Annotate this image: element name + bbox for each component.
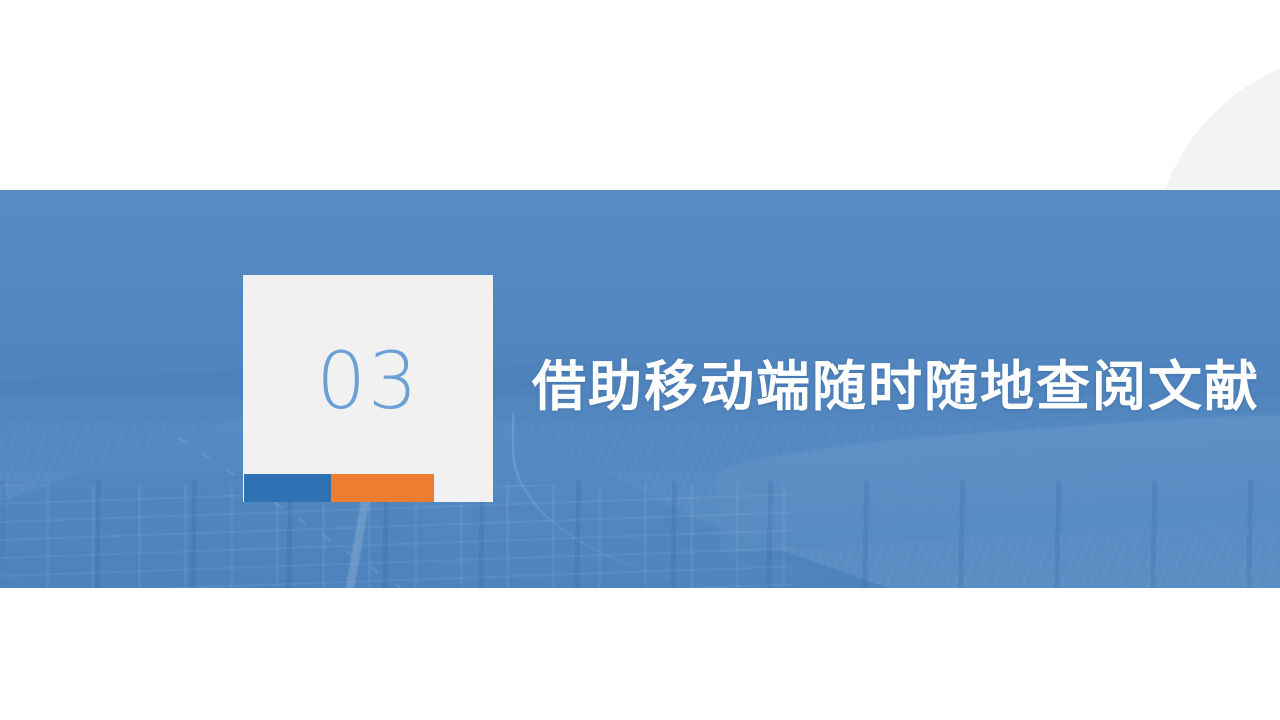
accent-bar-group bbox=[244, 474, 434, 502]
accent-bar-blue bbox=[244, 474, 331, 502]
decorative-shape-bottom-right bbox=[0, 588, 1280, 720]
section-number: 03 bbox=[316, 343, 419, 421]
presentation-slide: 03 借助移动端随时随地查阅文献 bbox=[0, 0, 1280, 720]
accent-bar-orange bbox=[331, 474, 434, 502]
section-number-card: 03 bbox=[243, 275, 493, 502]
section-title: 借助移动端随时随地查阅文献 bbox=[532, 356, 1260, 418]
